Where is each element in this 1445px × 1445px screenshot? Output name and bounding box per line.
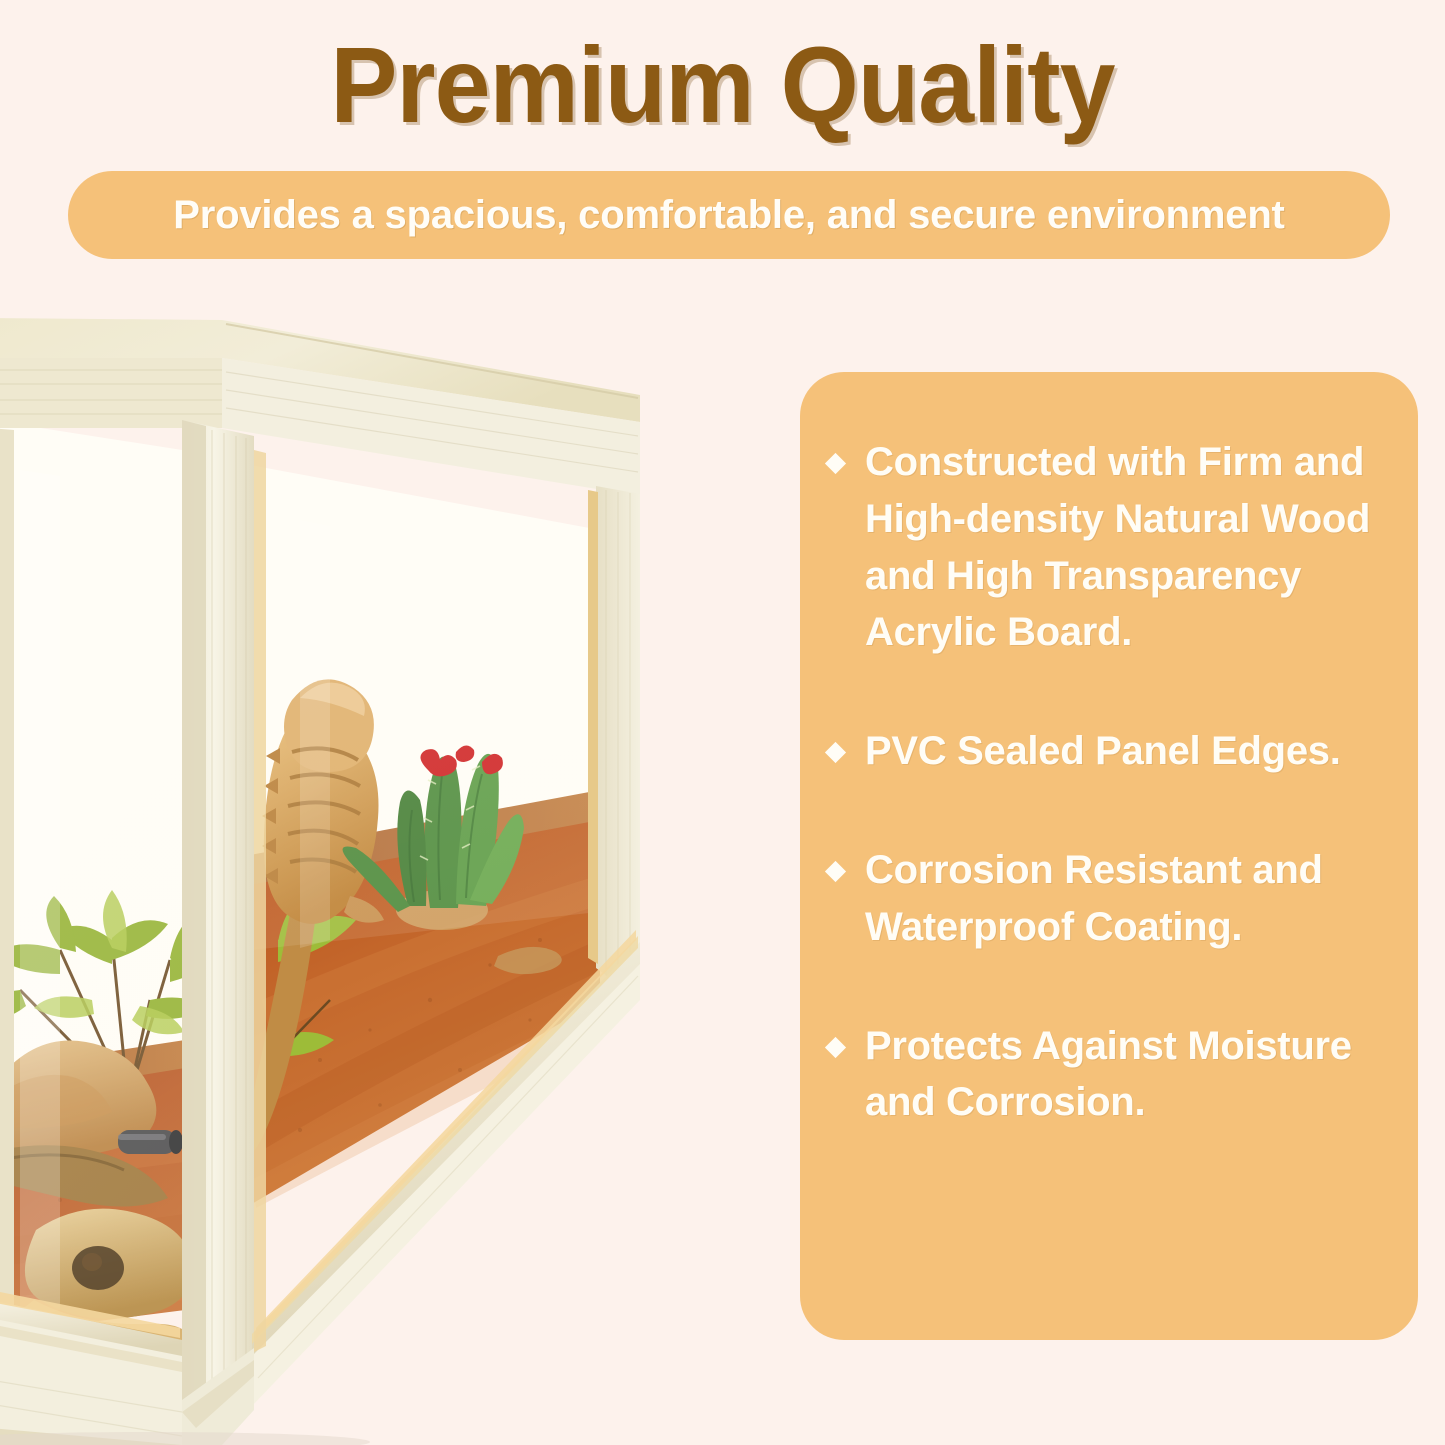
subtitle-banner: Provides a spacious, comfortable, and se… xyxy=(68,171,1390,259)
feature-item: Constructed with Firm and High-density N… xyxy=(828,434,1382,661)
feature-item-label: PVC Sealed Panel Edges. xyxy=(865,723,1341,780)
feature-item: Protects Against Moisture and Corrosion. xyxy=(828,1018,1382,1132)
feature-item-label: Constructed with Firm and High-density N… xyxy=(865,434,1382,661)
page-title: Premium Quality xyxy=(51,28,1395,141)
feature-item-label: Corrosion Resistant and Waterproof Coati… xyxy=(865,842,1382,956)
diamond-bullet-icon xyxy=(825,453,846,474)
terrarium-illustration xyxy=(0,300,700,1445)
feature-item: PVC Sealed Panel Edges. xyxy=(828,723,1382,780)
feature-item: Corrosion Resistant and Waterproof Coati… xyxy=(828,842,1382,956)
acrylic-panels xyxy=(0,430,598,1342)
diamond-bullet-icon xyxy=(825,1036,846,1057)
subtitle-text: Provides a spacious, comfortable, and se… xyxy=(173,193,1284,238)
feature-item-label: Protects Against Moisture and Corrosion. xyxy=(865,1018,1382,1132)
diamond-bullet-icon xyxy=(825,742,846,763)
diamond-bullet-icon xyxy=(825,861,846,882)
product-photo xyxy=(0,300,700,1445)
feature-list-panel: Constructed with Firm and High-density N… xyxy=(800,372,1418,1340)
